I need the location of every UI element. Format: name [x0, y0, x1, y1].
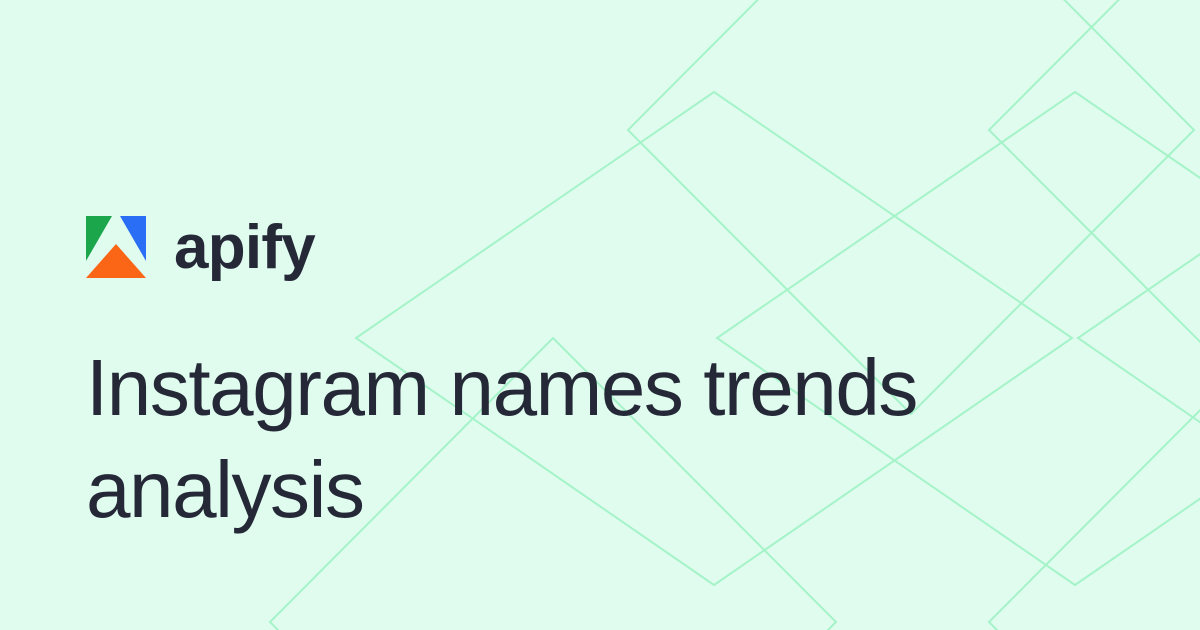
logo-orange-triangle	[86, 244, 146, 278]
og-card: apify Instagram names trends analysis	[0, 0, 1200, 630]
card-content: apify Instagram names trends analysis	[86, 0, 1086, 630]
pattern-diamond	[1078, 92, 1200, 585]
page-title: Instagram names trends analysis	[86, 337, 1046, 541]
apify-logo-mark-icon	[86, 216, 146, 278]
brand-wordmark: apify	[174, 217, 315, 279]
brand-logo: apify	[86, 216, 315, 278]
